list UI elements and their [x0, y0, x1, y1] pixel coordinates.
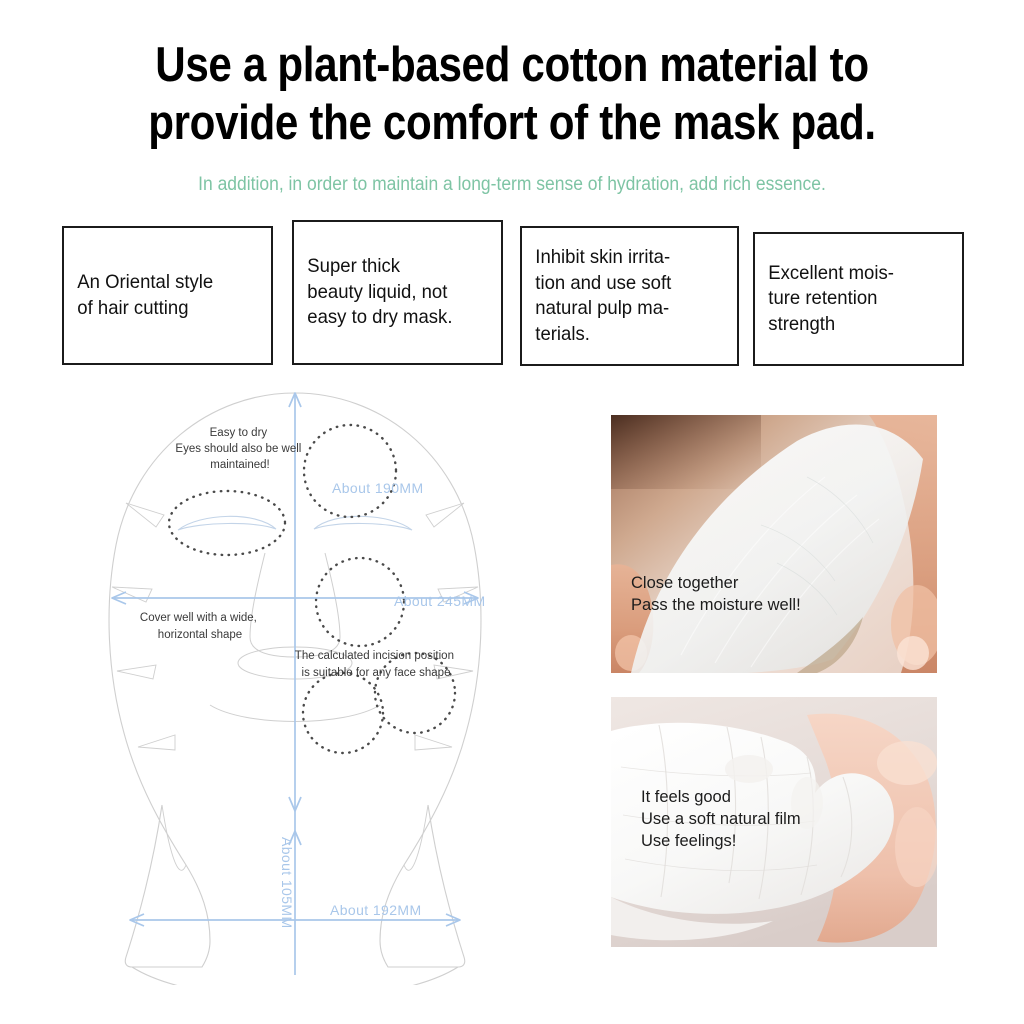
feature-box-2-text: Super thick beauty liquid, not easy to d…: [294, 254, 460, 331]
feature-box-2: Super thick beauty liquid, not easy to d…: [292, 220, 503, 365]
feature-box-1: An Oriental style of hair cutting: [62, 226, 273, 365]
page-subtitle: In addition, in order to maintain a long…: [41, 173, 983, 197]
mask-technical-diagram: Easy to dry Eyes should also be well mai…: [60, 375, 580, 985]
product-photo-cotton-sheet: It feels good Use a soft natural film Us…: [611, 697, 937, 947]
feature-box-3-text: Inhibit skin irrita- tion and use soft n…: [522, 245, 679, 347]
dimension-label-190mm: About 190MM: [332, 480, 424, 496]
annotation-eyes: Easy to dry Eyes should also be well mai…: [175, 427, 304, 471]
page-title: Use a plant-based cotton material to pro…: [72, 36, 953, 152]
product-photo-sheet-mask: Close together Pass the moisture well!: [611, 415, 937, 673]
callout-circle-low-right-a: [303, 673, 383, 753]
feature-box-3: Inhibit skin irrita- tion and use soft n…: [520, 226, 739, 366]
feature-box-4: Excellent mois- ture retention strength: [753, 232, 964, 366]
mask-callout-circles: [169, 425, 455, 753]
photo-1-caption: Close together Pass the moisture well!: [631, 572, 801, 616]
dimension-label-245mm: About 245MM: [394, 593, 486, 609]
photo-2-caption: It feels good Use a soft natural film Us…: [641, 786, 801, 852]
callout-circle-low-right-b: [375, 653, 455, 733]
annotation-cover: Cover well with a wide, horizontal shape: [140, 612, 260, 641]
callout-circle-top-right: [304, 425, 396, 517]
annotation-incision: The calculated incision position is suit…: [295, 650, 457, 679]
header: Use a plant-based cotton material to pro…: [0, 36, 1024, 197]
feature-box-1-text: An Oriental style of hair cutting: [64, 270, 221, 321]
dimension-label-192mm: About 192MM: [330, 902, 422, 918]
photo-1-image: [611, 415, 937, 673]
dimension-label-105mm: About 105MM: [279, 837, 295, 929]
feature-box-4-text: Excellent mois- ture retention strength: [755, 261, 902, 338]
